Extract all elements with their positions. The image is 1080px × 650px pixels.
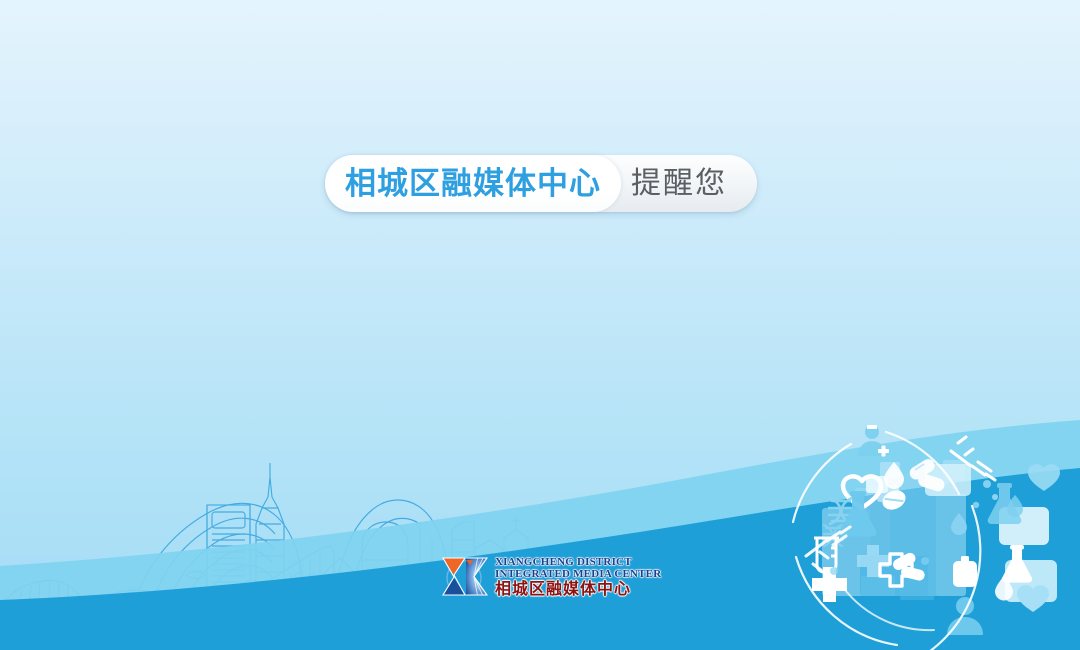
brand-logo: XIANGCHENG DISTRICT INTEGRATED MEDIA CEN… [440, 556, 661, 598]
notice-banner: 相城区融媒体中心 提醒您 [325, 155, 757, 212]
brand-text-block: XIANGCHENG DISTRICT INTEGRATED MEDIA CEN… [495, 557, 661, 598]
poster-canvas: 相城区融媒体中心 提醒您 [0, 0, 1080, 650]
organization-name: 相城区融媒体中心 [345, 168, 601, 199]
brand-english-line-1: XIANGCHENG DISTRICT [495, 557, 661, 568]
notice-suffix-text: 提醒您 [631, 155, 727, 212]
brand-english-line-2: INTEGRATED MEDIA CENTER [495, 569, 661, 580]
brand-chinese-name: 相城区融媒体中心 [495, 582, 661, 598]
organization-pill: 相城区融媒体中心 [325, 155, 621, 212]
xiangcheng-x-mark [440, 556, 488, 598]
background-artwork [0, 0, 1080, 650]
